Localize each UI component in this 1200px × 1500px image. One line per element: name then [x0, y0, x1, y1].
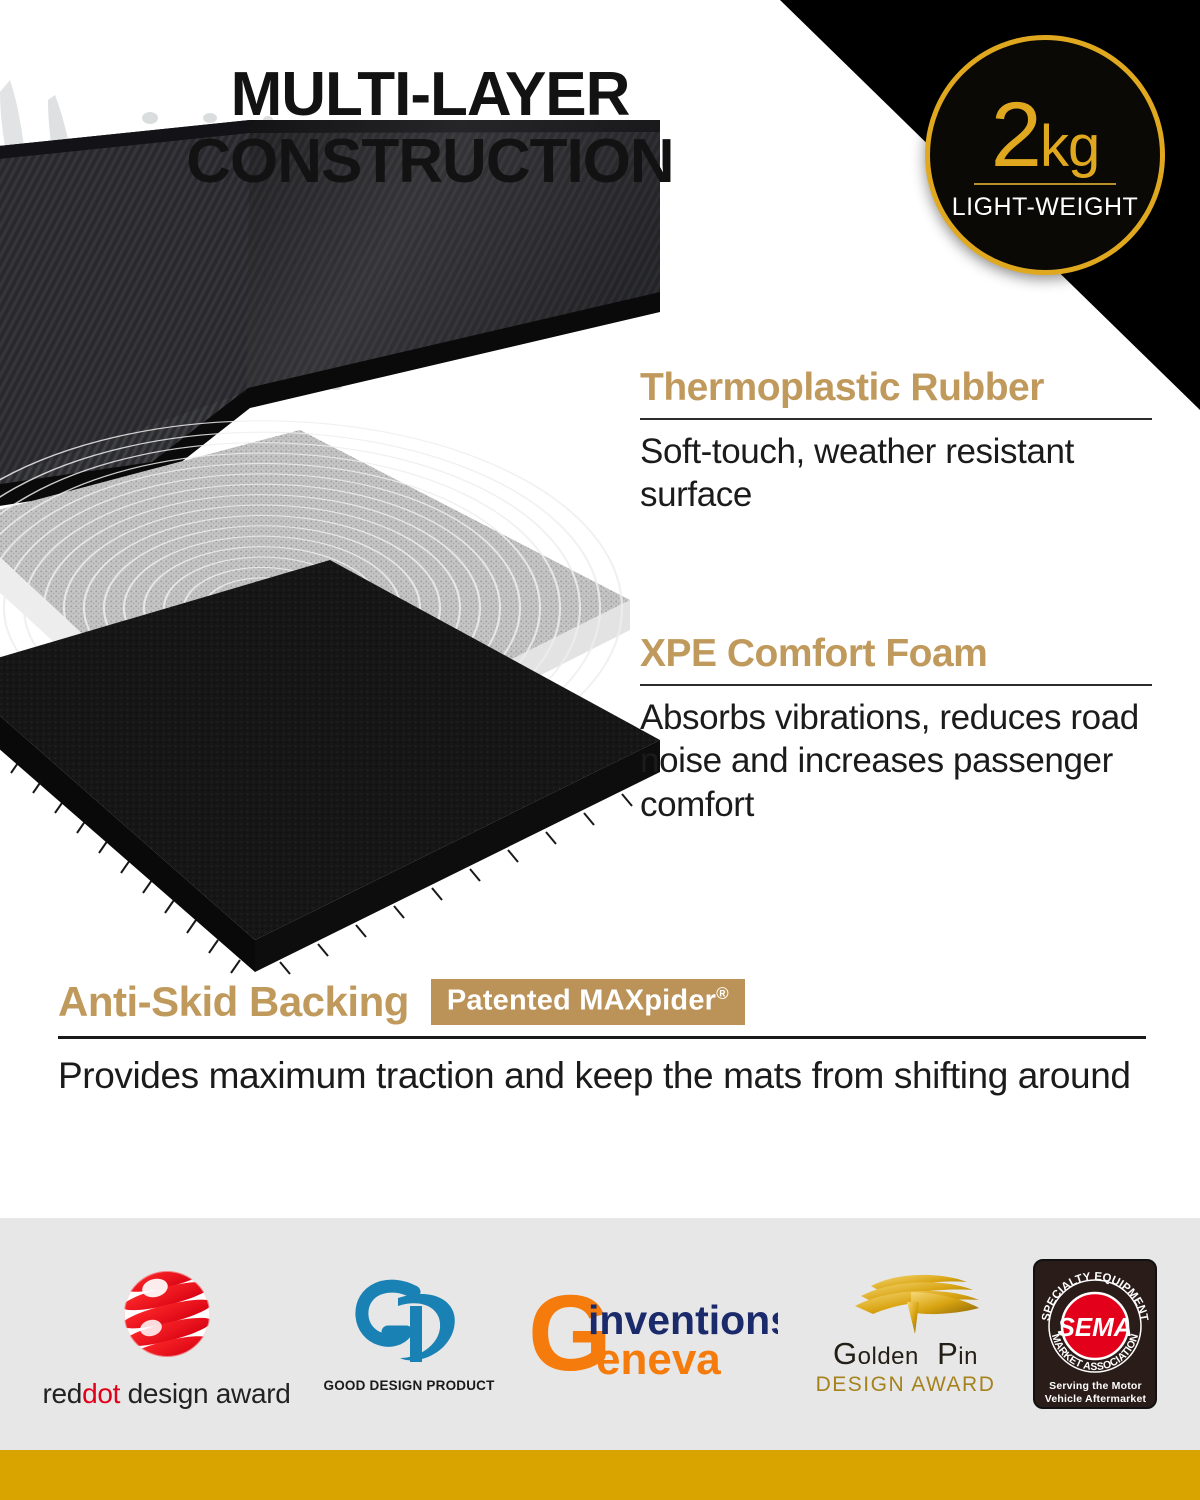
award-label: GOOD DESIGN PRODUCT: [324, 1378, 495, 1393]
sema-tagline: Serving the Motor Vehicle Aftermarket: [1045, 1380, 1146, 1406]
reddot-sphere-icon: [111, 1258, 223, 1370]
anti-skid-description: Provides maximum traction and keep the m…: [58, 1053, 1146, 1098]
sema-center-text: SEMA: [1058, 1312, 1133, 1342]
reddot-label-rest: design award: [120, 1378, 290, 1409]
golden-pin-wordmark: Golden Pin: [833, 1336, 978, 1372]
patent-badge-text: Patented MAXpider: [447, 984, 716, 1016]
registered-trademark-symbol: ®: [716, 984, 729, 1003]
award-golden-pin-design-award: Golden Pin DESIGN AWARD: [811, 1272, 1001, 1397]
sema-tagline-line-1: Serving the Motor: [1045, 1380, 1146, 1393]
feature-divider: [640, 684, 1152, 686]
reddot-label-dot: dot: [82, 1378, 120, 1409]
badge-caption: LIGHT-WEIGHT: [952, 193, 1139, 222]
feature-description: Soft-touch, weather resistant surface: [640, 430, 1152, 518]
badge-weight-value: 2kg: [991, 92, 1099, 179]
feature-block-xpe-comfort-foam: XPE Comfort Foam Absorbs vibrations, red…: [640, 632, 1152, 827]
golden-pin-subtitle: DESIGN AWARD: [816, 1373, 996, 1397]
gp-in: in: [958, 1343, 978, 1370]
award-inventions-geneva: G inventions eneva: [528, 1282, 778, 1386]
good-design-gd-icon: [348, 1276, 470, 1372]
eneva-word: eneva: [596, 1335, 721, 1384]
feature-divider: [640, 418, 1152, 420]
golden-pin-swoosh-icon: [811, 1272, 1001, 1334]
anti-skid-title: Anti-Skid Backing: [58, 978, 409, 1026]
inventions-geneva-logo: G inventions eneva: [528, 1282, 778, 1386]
page-title-line-1: MULTI-LAYER: [231, 60, 630, 129]
anti-skid-heading-row: Anti-Skid Backing Patented MAXpider®: [58, 978, 1146, 1026]
bottom-gold-bar: [0, 1450, 1200, 1500]
sema-seal-icon: SPECIALTY EQUIPMENT MARKET ASSOCIATION S…: [1037, 1266, 1153, 1378]
badge-divider: [974, 183, 1116, 185]
page-title: MULTI-LAYER CONSTRUCTION: [0, 62, 860, 196]
patented-maxpider-badge: Patented MAXpider®: [431, 979, 745, 1026]
badge-number: 2: [991, 92, 1040, 179]
anti-skid-divider: [58, 1036, 1146, 1039]
gp-p: P: [937, 1336, 958, 1371]
award-reddot-design-award: reddot design award: [42, 1258, 290, 1410]
award-label: reddot design award: [42, 1378, 290, 1410]
feature-block-anti-skid-backing: Anti-Skid Backing Patented MAXpider® Pro…: [58, 978, 1146, 1098]
feature-title: Thermoplastic Rubber: [640, 366, 1152, 410]
sema-badge: SPECIALTY EQUIPMENT MARKET ASSOCIATION S…: [1033, 1259, 1157, 1409]
award-good-design-product: GOOD DESIGN PRODUCT: [324, 1276, 495, 1393]
gp-olden: olden: [858, 1343, 919, 1370]
badge-unit: kg: [1040, 119, 1099, 174]
light-weight-badge: 2kg LIGHT-WEIGHT: [925, 35, 1165, 275]
feature-title: XPE Comfort Foam: [640, 632, 1152, 676]
feature-block-thermoplastic-rubber: Thermoplastic Rubber Soft-touch, weather…: [640, 366, 1152, 517]
gp-g: G: [833, 1336, 858, 1371]
feature-description: Absorbs vibrations, reduces road noise a…: [640, 696, 1152, 827]
award-sema: SPECIALTY EQUIPMENT MARKET ASSOCIATION S…: [1033, 1259, 1157, 1409]
awards-footer: reddot design award GOOD DESIGN PRODUCT …: [0, 1218, 1200, 1450]
sema-tagline-line-2: Vehicle Aftermarket: [1045, 1393, 1146, 1406]
page-title-line-2: CONSTRUCTION: [186, 127, 673, 196]
reddot-label-red: red: [42, 1378, 82, 1409]
